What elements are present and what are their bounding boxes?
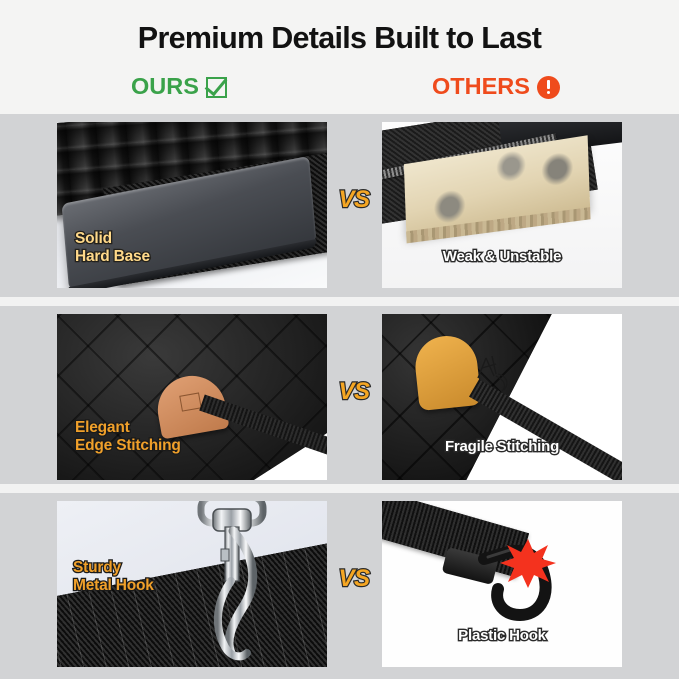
legend-others-label: OTHERS [432,75,530,99]
legend-ours-label: OURS [131,75,199,99]
others-caption-hook: Plastic Hook [382,627,622,645]
comparison-infographic: Premium Details Built to Last OURS OTHER… [0,0,679,679]
ours-caption-base: Solid Hard Base [75,230,150,267]
others-caption-base: Weak & Unstable [382,248,622,266]
header: Premium Details Built to Last OURS OTHER… [0,0,679,114]
red-burst-break-icon [500,537,556,589]
ours-caption-stitching: Elegant Edge Stitching [75,419,181,456]
others-panel-hook: Plastic Hook [382,501,622,667]
others-panel-stitching: Fragile Stitching [382,314,622,480]
exclamation-circle-icon [537,76,560,99]
vs-badge-hook: VS [334,565,374,593]
legend-ours: OURS [131,72,227,102]
comparison-row-base: Solid Hard Base VS Weak & Unstable [0,114,679,297]
ours-panel-hook: Sturdy Metal Hook [57,501,327,667]
legend-others: OTHERS [432,72,560,102]
comparison-row-hook: Sturdy Metal Hook VS Plastic Hook [0,493,679,676]
ours-caption-hook: Sturdy Metal Hook [73,559,154,596]
comparison-row-stitching: Elegant Edge Stitching VS Fragile Stitch… [0,306,679,489]
vs-badge-stitching: VS [334,378,374,406]
ours-panel-stitching: Elegant Edge Stitching [57,314,327,480]
others-caption-stitching: Fragile Stitching [382,438,622,456]
others-panel-base: Weak & Unstable [382,122,622,288]
vs-badge-base: VS [334,186,374,214]
legend-row: OURS OTHERS [0,72,679,106]
page-title: Premium Details Built to Last [0,21,679,56]
ours-panel-base: Solid Hard Base [57,122,327,288]
section-divider [0,297,679,306]
frayed-thread-icon [474,352,516,392]
metal-hook-image [173,501,291,667]
checkbox-check-icon [206,77,227,98]
